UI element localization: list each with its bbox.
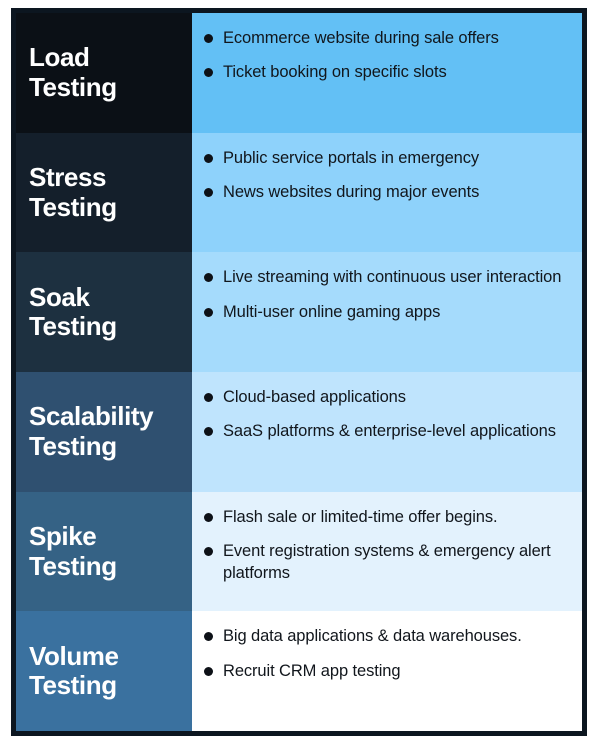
- table-row: Volume TestingBig data applications & da…: [16, 611, 582, 731]
- list-item: Big data applications & data warehouses.: [204, 626, 568, 647]
- examples-cell: Big data applications & data warehouses.…: [192, 611, 582, 731]
- example-text: Recruit CRM app testing: [223, 661, 400, 682]
- testing-type-label: Soak Testing: [29, 283, 117, 342]
- bullet-dot-icon: [204, 393, 213, 402]
- list-item: Public service portals in emergency: [204, 148, 568, 169]
- list-item: Cloud-based applications: [204, 387, 568, 408]
- bullet-dot-icon: [204, 632, 213, 641]
- list-item: Live streaming with continuous user inte…: [204, 267, 568, 288]
- list-item: Event registration systems & emergency a…: [204, 541, 568, 584]
- testing-type-cell: Spike Testing: [16, 492, 192, 612]
- bullet-dot-icon: [204, 308, 213, 317]
- examples-cell: Cloud-based applicationsSaaS platforms &…: [192, 372, 582, 492]
- testing-type-label: Stress Testing: [29, 163, 117, 222]
- example-text: Ticket booking on specific slots: [223, 62, 447, 83]
- example-text: Ecommerce website during sale offers: [223, 28, 499, 49]
- testing-type-cell: Volume Testing: [16, 611, 192, 731]
- bullet-dot-icon: [204, 513, 213, 522]
- testing-type-cell: Stress Testing: [16, 133, 192, 253]
- list-item: Ticket booking on specific slots: [204, 62, 568, 83]
- table-row: Load TestingEcommerce website during sal…: [16, 13, 582, 133]
- bullet-dot-icon: [204, 547, 213, 556]
- bullet-dot-icon: [204, 667, 213, 676]
- testing-type-label: Spike Testing: [29, 522, 117, 581]
- table-row: Soak TestingLive streaming with continuo…: [16, 252, 582, 372]
- example-text: Cloud-based applications: [223, 387, 406, 408]
- testing-type-label: Volume Testing: [29, 642, 119, 701]
- example-text: Multi-user online gaming apps: [223, 302, 440, 323]
- table-row: Scalability TestingCloud-based applicati…: [16, 372, 582, 492]
- example-text: SaaS platforms & enterprise-level applic…: [223, 421, 556, 442]
- list-item: Multi-user online gaming apps: [204, 302, 568, 323]
- example-text: Flash sale or limited-time offer begins.: [223, 507, 497, 528]
- example-text: Event registration systems & emergency a…: [223, 541, 568, 584]
- bullet-dot-icon: [204, 188, 213, 197]
- examples-cell: Flash sale or limited-time offer begins.…: [192, 492, 582, 612]
- testing-types-table: Load TestingEcommerce website during sal…: [11, 8, 587, 736]
- list-item: Recruit CRM app testing: [204, 661, 568, 682]
- list-item: Flash sale or limited-time offer begins.: [204, 507, 568, 528]
- testing-type-label: Scalability Testing: [29, 402, 153, 461]
- table-row: Stress TestingPublic service portals in …: [16, 133, 582, 253]
- testing-type-label: Load Testing: [29, 43, 117, 102]
- bullet-dot-icon: [204, 34, 213, 43]
- example-text: Live streaming with continuous user inte…: [223, 267, 561, 288]
- testing-type-cell: Load Testing: [16, 13, 192, 133]
- example-text: News websites during major events: [223, 182, 479, 203]
- example-text: Big data applications & data warehouses.: [223, 626, 522, 647]
- examples-cell: Live streaming with continuous user inte…: [192, 252, 582, 372]
- testing-type-cell: Scalability Testing: [16, 372, 192, 492]
- bullet-dot-icon: [204, 154, 213, 163]
- list-item: SaaS platforms & enterprise-level applic…: [204, 421, 568, 442]
- examples-cell: Ecommerce website during sale offersTick…: [192, 13, 582, 133]
- examples-cell: Public service portals in emergencyNews …: [192, 133, 582, 253]
- bullet-dot-icon: [204, 273, 213, 282]
- list-item: Ecommerce website during sale offers: [204, 28, 568, 49]
- list-item: News websites during major events: [204, 182, 568, 203]
- bullet-dot-icon: [204, 68, 213, 77]
- testing-type-cell: Soak Testing: [16, 252, 192, 372]
- table-row: Spike TestingFlash sale or limited-time …: [16, 492, 582, 612]
- example-text: Public service portals in emergency: [223, 148, 479, 169]
- bullet-dot-icon: [204, 427, 213, 436]
